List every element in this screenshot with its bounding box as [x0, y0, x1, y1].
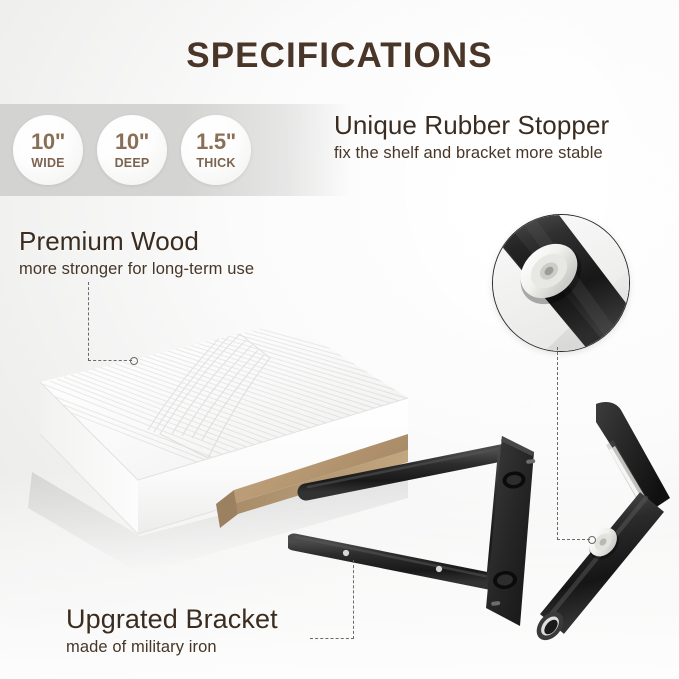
l-shaped-bracket-rod-closeup [520, 398, 679, 648]
spec-badge-thick: 1.5" THICK [181, 115, 251, 185]
bracket-screw-hole [343, 550, 349, 556]
spec-badge-unit: WIDE [31, 157, 64, 170]
bracket-front-arm [294, 537, 494, 582]
leader-line-bracket-horizontal [310, 638, 354, 639]
spec-badge-number: 10" [115, 131, 149, 153]
spec-badge-unit: THICK [196, 157, 235, 170]
spec-badge-unit: DEEP [115, 157, 150, 170]
callout-title: Upgrated Bracket [66, 604, 278, 635]
bracket-inset-vertical-plate [596, 402, 670, 510]
bracket-inset-rod [531, 498, 652, 645]
magnified-detail-circle [492, 214, 630, 352]
leader-line-wood-horizontal [88, 360, 132, 361]
callout-upgraded-bracket: Upgrated Bracket made of military iron [66, 604, 278, 657]
callout-title: Premium Wood [19, 226, 254, 257]
callout-subtitle: fix the shelf and bracket more stable [334, 144, 609, 163]
spec-badge-group: 10" WIDE 10" DEEP 1.5" THICK [13, 115, 251, 185]
callout-title: Unique Rubber Stopper [334, 110, 609, 141]
callout-subtitle: more stronger for long-term use [19, 260, 254, 279]
spec-badge-deep: 10" DEEP [97, 115, 167, 185]
spec-badge-number: 1.5" [196, 131, 236, 153]
bracket-inset-illustration [520, 398, 679, 648]
leader-line-stopper-horizontal [557, 539, 590, 540]
spec-badge-wide: 10" WIDE [13, 115, 83, 185]
callout-rubber-stopper: Unique Rubber Stopper fix the shelf and … [334, 110, 609, 163]
bracket-rear-arm [306, 448, 506, 492]
page-title: SPECIFICATIONS [0, 36, 679, 76]
leader-line-wood-vertical [88, 282, 89, 361]
leader-endpoint-wood [130, 357, 138, 365]
leader-line-bracket-vertical [353, 560, 354, 639]
leader-endpoint-stopper [588, 536, 596, 544]
leader-line-stopper-vertical [557, 347, 558, 540]
spec-badge-number: 10" [31, 131, 65, 153]
bracket-screw-hole [436, 566, 442, 572]
callout-premium-wood: Premium Wood more stronger for long-term… [19, 226, 254, 279]
product-specifications-infographic: SPECIFICATIONS 10" WIDE 10" DEEP 1.5" TH… [0, 0, 679, 679]
magnifier-contents [493, 215, 629, 351]
callout-subtitle: made of military iron [66, 638, 278, 657]
